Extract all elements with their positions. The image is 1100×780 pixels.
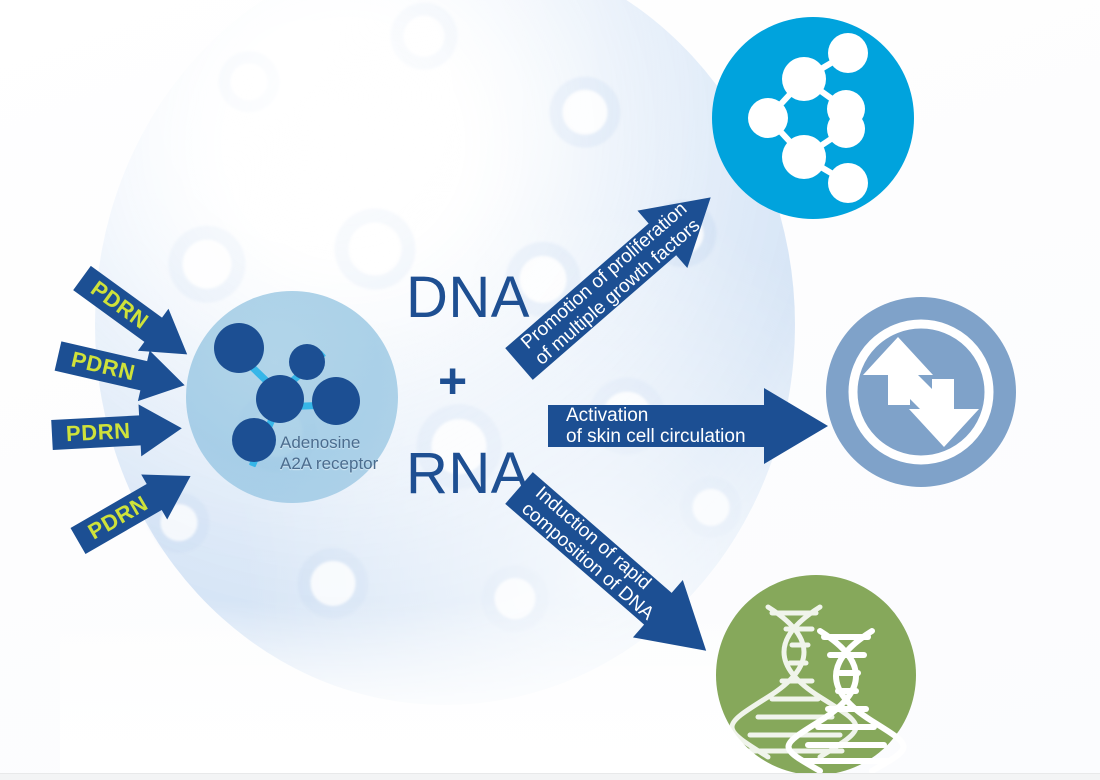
recycle-arrows-icon [826, 297, 1016, 487]
outcome-arrow-circulation: Activation of skin cell circulation [548, 388, 828, 464]
dna-helix-icon [716, 575, 916, 775]
plus-label: + [438, 352, 468, 410]
bottom-strip [0, 773, 1100, 780]
receptor-label-line1: Adenosine [280, 432, 420, 453]
receptor-node-top-right [289, 344, 325, 380]
receptor-label: Adenosine A2A receptor [280, 432, 420, 474]
receptor-node-center [256, 375, 304, 423]
molecular-network-icon [712, 17, 914, 219]
receptor-node-top-left [214, 323, 264, 373]
receptor-node-right [312, 377, 360, 425]
outcome-label-circulation-2: of skin cell circulation [566, 426, 746, 447]
receptor-label-line2: A2A receptor [280, 453, 420, 474]
pdrn-label-4: PDRN [84, 490, 153, 544]
receptor-node-bottom-left [232, 418, 276, 462]
diagram-canvas: Adenosine A2A receptor DNA + RNA PDRN PD… [0, 0, 1100, 780]
pdrn-arrow-3: PDRN [51, 402, 184, 461]
outcome-label-circulation-1: Activation [566, 405, 648, 426]
dna-icon-circle[interactable] [716, 575, 916, 775]
pdrn-label-3: PDRN [65, 418, 131, 446]
growth-factors-icon-circle[interactable] [712, 17, 914, 219]
circulation-icon-circle[interactable] [826, 297, 1016, 487]
